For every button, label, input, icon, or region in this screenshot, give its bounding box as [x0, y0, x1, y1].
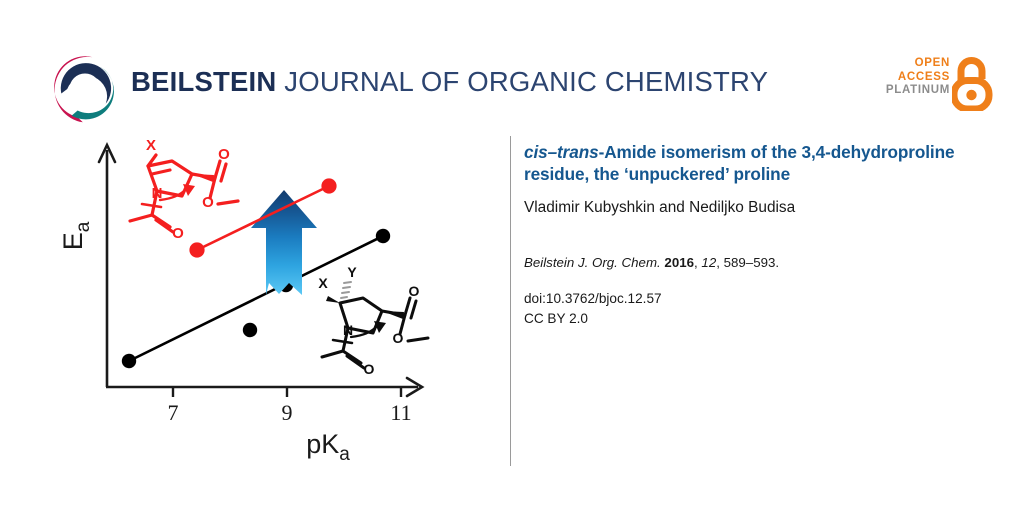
- x-tick-label: 11: [390, 400, 411, 425]
- data-point: [243, 323, 257, 337]
- wordmark-bold: BEILSTEIN: [131, 66, 276, 97]
- dehydroproline-structure-icon: [130, 155, 238, 232]
- article-doi[interactable]: doi:10.3762/bjoc.12.57: [524, 289, 976, 308]
- article-citation: Beilstein J. Org. Chem. 2016, 12, 589–59…: [524, 254, 976, 272]
- atom-label-X: X: [146, 137, 156, 154]
- graphical-abstract-figure: 7 9 11 pKa Ea: [60, 128, 490, 468]
- atom-label-O: O: [172, 225, 184, 242]
- citation-journal: Beilstein J. Org. Chem.: [524, 255, 661, 270]
- data-point: [189, 242, 204, 257]
- x-axis-label: pKa: [306, 429, 350, 465]
- atom-label-O: O: [364, 361, 375, 377]
- atom-label-N: N: [152, 185, 163, 202]
- article-title-italic-part: cis–trans: [524, 142, 599, 162]
- article-license[interactable]: CC BY 2.0: [524, 309, 976, 328]
- x-tick-label: 9: [282, 400, 293, 425]
- article-info-panel: cis–trans-Amide isomerism of the 3,4-deh…: [524, 142, 976, 328]
- citation-year: 2016: [664, 255, 694, 270]
- article-title: cis–trans-Amide isomerism of the 3,4-deh…: [524, 142, 976, 185]
- atom-label-N: N: [343, 322, 353, 338]
- series-proline-black: [122, 229, 390, 368]
- svg-text:pKa: pKa: [306, 429, 350, 465]
- oa-line-access: ACCESS: [886, 71, 950, 85]
- atom-label-X: X: [318, 275, 328, 291]
- graphical-abstract-page: BEILSTEIN JOURNAL OF ORGANIC CHEMISTRY O…: [0, 0, 1024, 512]
- x-axis-label-base: pK: [306, 429, 339, 459]
- chart-axes: [99, 145, 422, 397]
- atom-label-O: O: [202, 194, 214, 211]
- article-authors: Vladimir Kubyshkin and Nediljko Budisa: [524, 198, 976, 218]
- beilstein-triple-crescent-logo-icon: [48, 52, 122, 126]
- open-padlock-icon: [952, 55, 994, 111]
- upward-gradient-arrow-icon: [251, 190, 317, 295]
- y-axis-label: Ea: [60, 221, 94, 250]
- oa-line-open: OPEN: [886, 57, 950, 71]
- citation-volume: 12: [701, 255, 716, 270]
- data-point: [321, 178, 336, 193]
- journal-masthead: BEILSTEIN JOURNAL OF ORGANIC CHEMISTRY O…: [0, 0, 1024, 140]
- data-point: [376, 229, 390, 243]
- x-tick-labels: 7 9 11: [168, 400, 412, 425]
- journal-wordmark: BEILSTEIN JOURNAL OF ORGANIC CHEMISTRY: [131, 68, 768, 96]
- open-access-text: OPEN ACCESS PLATINUM: [886, 57, 950, 98]
- x-axis-label-sub: a: [339, 444, 350, 465]
- column-divider: [510, 136, 511, 466]
- oa-line-platinum: PLATINUM: [886, 84, 950, 98]
- atom-label-O: O: [218, 146, 230, 163]
- y-axis-label-base: E: [60, 232, 88, 250]
- atom-label-Y: Y: [347, 264, 357, 280]
- atom-label-O: O: [409, 283, 420, 299]
- y-axis-label-sub: a: [73, 221, 94, 232]
- atom-label-O: O: [393, 330, 404, 346]
- data-point: [122, 354, 136, 368]
- wordmark-light: JOURNAL OF ORGANIC CHEMISTRY: [276, 66, 768, 97]
- open-access-badge: OPEN ACCESS PLATINUM: [876, 55, 994, 117]
- svg-text:Ea: Ea: [60, 221, 94, 250]
- x-tick-label: 7: [168, 400, 179, 425]
- citation-pages: 589–593.: [724, 255, 779, 270]
